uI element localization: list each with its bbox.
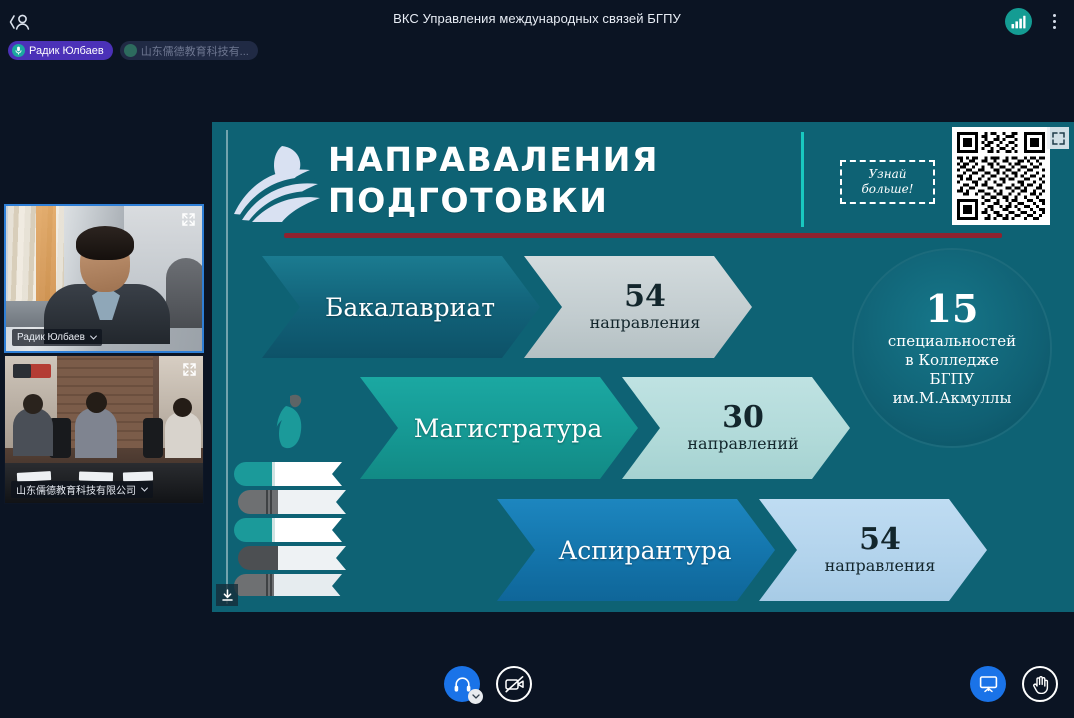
slide-vertical-rule <box>801 132 804 227</box>
participant-chip-label: Радик Юлбаев <box>29 45 104 57</box>
participant-chip-list: Радик Юлбаев 山东儒德教育科技有... <box>8 41 258 60</box>
thumbnail-label-text: Радик Юлбаев <box>17 332 85 343</box>
video-conference-window: ВКС Управления международных связей БГПУ <box>0 0 1074 718</box>
presentation-slide: НАПРАВАЛЕНИЯ ПОДГОТОВКИ Узнай больше! <box>212 122 1074 612</box>
program-level-chevron: Аспирантура <box>497 499 775 601</box>
slide-title-line-1: НАПРАВАЛЕНИЯ <box>328 139 659 180</box>
raise-hand-icon[interactable] <box>1022 666 1058 702</box>
cta-line-2: больше! <box>861 182 913 196</box>
program-count-unit: направлений <box>636 434 850 454</box>
top-bar: ВКС Управления международных связей БГПУ <box>0 0 1074 40</box>
participant-chip-label: 山东儒德教育科技有... <box>141 43 249 59</box>
college-line-2: в Колледже <box>905 351 999 370</box>
participant-chip-speaking[interactable]: Радик Юлбаев <box>8 41 113 60</box>
college-line-1: специальностей <box>888 332 1016 351</box>
thumbnail-label-text: 山东儒德教育科技有限公司 <box>16 482 136 497</box>
program-level-label: Аспирантура <box>497 536 775 565</box>
program-count-value: 54 <box>538 281 752 313</box>
program-count-unit: направления <box>773 556 987 576</box>
signal-strength-icon[interactable] <box>1005 8 1032 35</box>
cta-line-1: Узнай <box>868 167 906 181</box>
thumbnail-name-label[interactable]: 山东儒德教育科技有限公司 <box>11 481 153 498</box>
learn-more-callout: Узнай больше! <box>840 160 935 204</box>
slide-title-divider <box>284 233 1002 238</box>
program-count-value: 54 <box>773 524 987 556</box>
share-screen-icon[interactable] <box>970 666 1006 702</box>
chevron-down-icon[interactable] <box>468 689 483 704</box>
microphone-muted-icon <box>124 44 137 57</box>
meeting-title: ВКС Управления международных связей БГПУ <box>0 11 1074 26</box>
slide-title-line-2: ПОДГОТОВКИ <box>328 180 659 221</box>
program-level-label: Бакалавриат <box>262 293 540 322</box>
shared-screen-region[interactable]: НАПРАВАЛЕНИЯ ПОДГОТОВКИ Узнай больше! <box>212 122 1074 612</box>
college-line-3: БГПУ <box>930 370 975 389</box>
program-count-unit: направления <box>538 313 752 333</box>
thumbnail-name-label[interactable]: Радик Юлбаев <box>12 329 102 346</box>
program-count-chevron: 54 направления <box>524 256 752 358</box>
microphone-icon <box>12 44 25 57</box>
college-stat-circle: 15 специальностей в Колледже БГПУ им.М.А… <box>854 250 1050 446</box>
video-thumbnail-speaker[interactable]: Радик Юлбаев <box>4 204 204 353</box>
program-level-chevron: Бакалавриат <box>262 256 540 358</box>
download-icon[interactable] <box>216 584 238 606</box>
kebab-menu-icon[interactable] <box>1044 10 1064 32</box>
video-thumbnail-guest[interactable]: 山东儒德教育科技有限公司 <box>4 355 204 504</box>
program-count-value: 30 <box>636 402 850 434</box>
program-level-label: Магистратура <box>360 414 638 443</box>
expand-icon[interactable] <box>1047 127 1069 149</box>
camera-off-icon[interactable] <box>496 666 532 702</box>
program-count-chevron: 54 направления <box>759 499 987 601</box>
college-line-4: им.М.Акмуллы <box>893 389 1012 408</box>
qr-code-icon <box>952 127 1050 225</box>
college-count-value: 15 <box>926 289 979 329</box>
expand-icon[interactable] <box>179 210 198 229</box>
slide-title: НАПРАВАЛЕНИЯ ПОДГОТОВКИ <box>328 139 659 221</box>
chevron-down-icon <box>141 487 148 492</box>
program-count-chevron: 30 направлений <box>622 377 850 479</box>
bottom-toolbar <box>0 656 1074 718</box>
program-level-chevron: Магистратура <box>360 377 638 479</box>
headset-icon[interactable] <box>444 666 480 702</box>
participant-chip-muted[interactable]: 山东儒德教育科技有... <box>120 41 258 60</box>
bgpu-wave-logo-icon <box>232 144 320 222</box>
stacked-books-icon <box>224 390 348 596</box>
expand-icon[interactable] <box>180 360 199 379</box>
chevron-down-icon <box>90 335 97 340</box>
